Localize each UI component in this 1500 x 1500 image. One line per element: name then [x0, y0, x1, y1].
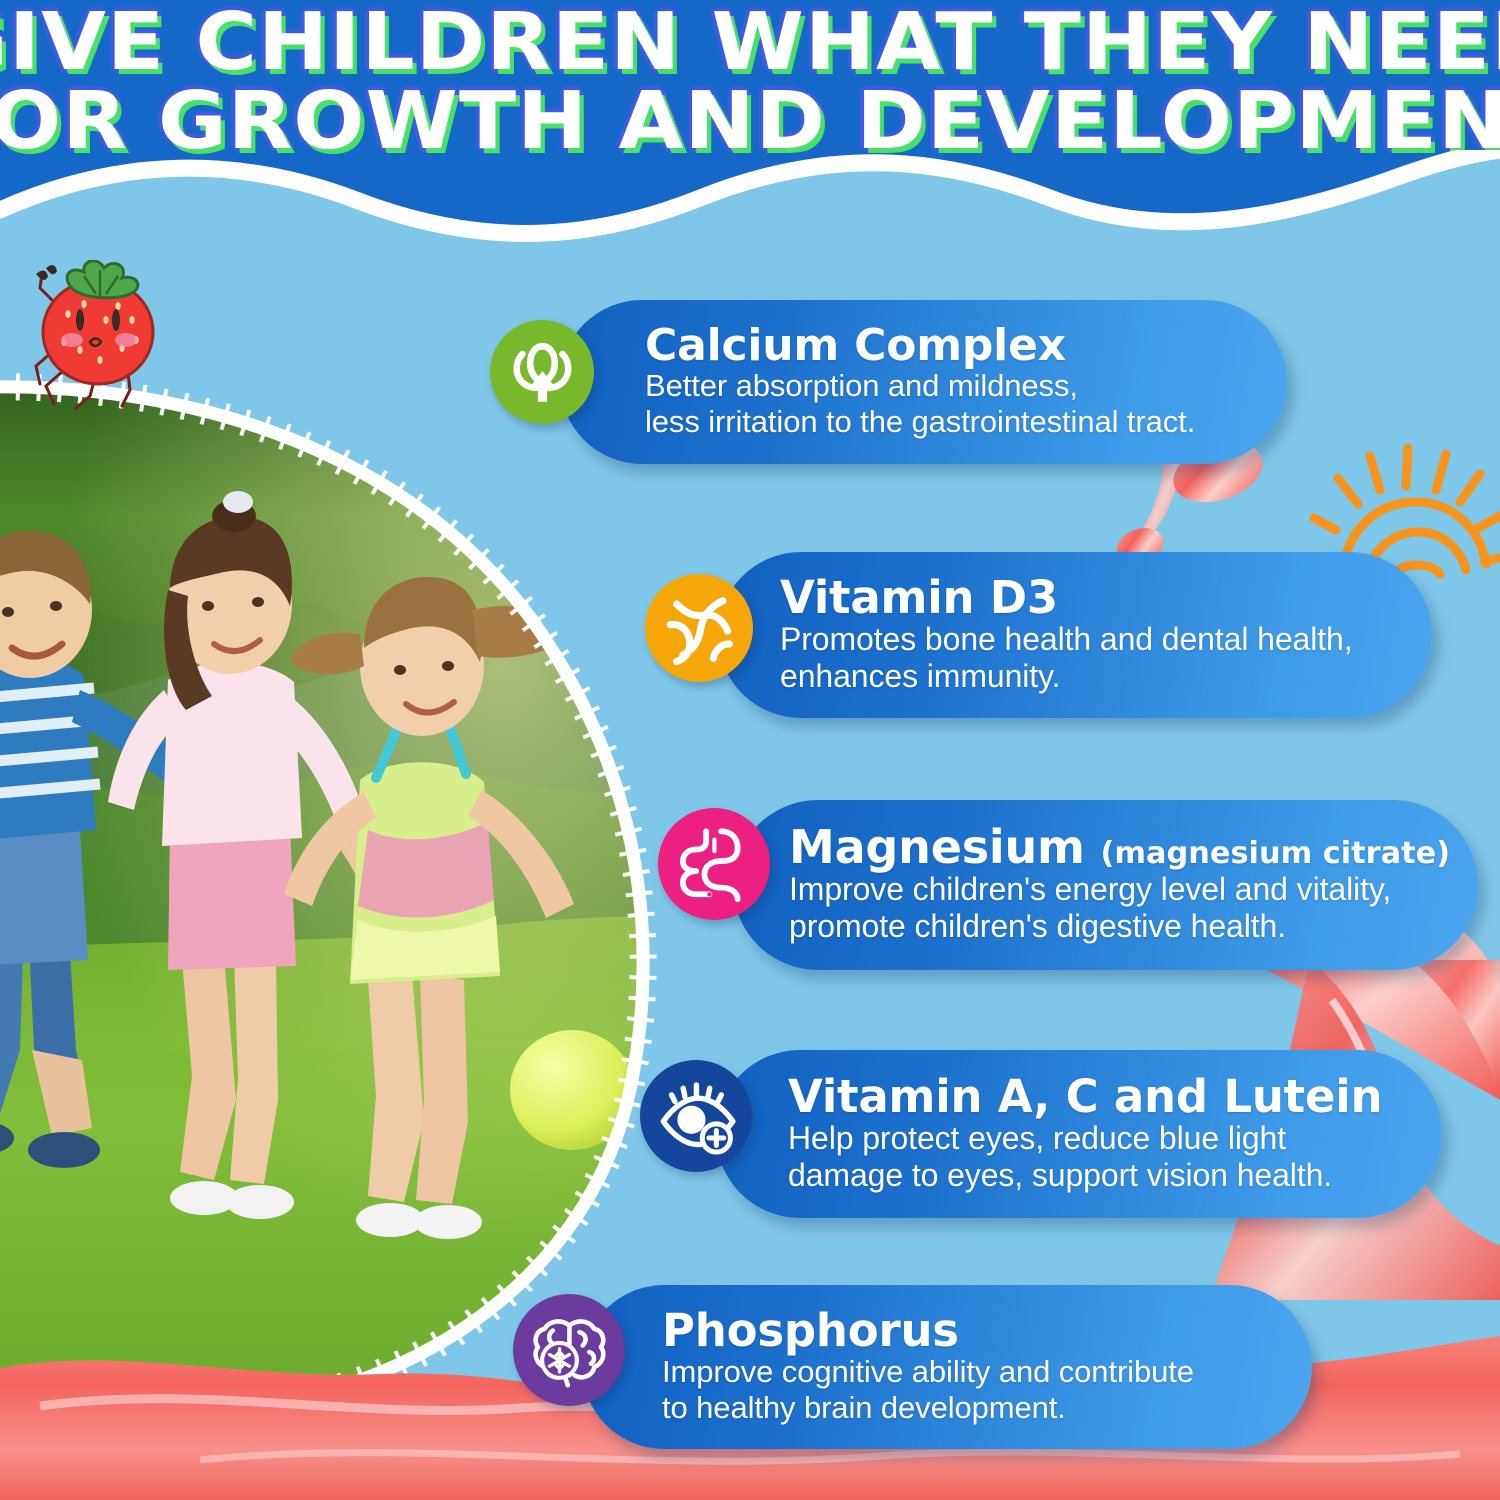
- card-title-eyes: Vitamin A, C and Lutein: [788, 1074, 1382, 1120]
- brain-icon: [513, 1294, 625, 1406]
- eye-plus-icon: [640, 1060, 752, 1172]
- card-title-magnesium: Magnesium (magnesium citrate): [789, 824, 1450, 871]
- benefit-card-calcium[interactable]: Calcium Complex Better absorption and mi…: [560, 300, 1287, 464]
- card-title-calcium: Calcium Complex: [645, 324, 1195, 369]
- header-title-line1: GIVE CHILDREN WHAT THEY NEED: [0, 6, 1500, 79]
- children-photo: [0, 360, 672, 1430]
- card-desc-eyes-line2: damage to eyes, support vision health.: [788, 1157, 1382, 1194]
- poster-root: GIVE CHILDREN WHAT THEY NEED FOR GROWTH …: [0, 0, 1500, 1500]
- card-title-phosphorus: Phosphorus: [662, 1308, 1194, 1354]
- benefit-card-vitamin-a-c-lutein[interactable]: Vitamin A, C and Lutein Help protect eye…: [716, 1050, 1442, 1218]
- card-desc-magnesium-line1: Improve children's energy level and vita…: [789, 871, 1450, 908]
- card-desc-magnesium-line2: promote children's digestive health.: [789, 908, 1450, 945]
- card-desc-phosphorus-line2: to healthy brain development.: [662, 1390, 1194, 1426]
- photo-content: [0, 360, 672, 1430]
- header-title-line2: FOR GROWTH AND DEVELOPMENT: [0, 85, 1500, 158]
- card-desc-d3-line1: Promotes bone health and dental health,: [780, 621, 1353, 658]
- hands-growth-arrow-icon: [490, 320, 594, 424]
- card-desc-calcium-line1: Better absorption and mildness,: [645, 368, 1195, 404]
- benefit-card-phosphorus[interactable]: Phosphorus Improve cognitive ability and…: [582, 1285, 1312, 1449]
- strawberry-mascot-icon: [18, 244, 188, 419]
- card-title-magnesium-main: Magnesium: [789, 820, 1085, 874]
- card-title-magnesium-sub: (magnesium citrate): [1101, 836, 1451, 871]
- card-desc-calcium-line2: less irritation to the gastrointestinal …: [645, 404, 1195, 440]
- card-desc-phosphorus-line1: Improve cognitive ability and contribute: [662, 1354, 1194, 1390]
- benefit-card-magnesium[interactable]: Magnesium (magnesium citrate) Improve ch…: [733, 800, 1478, 970]
- card-desc-d3-line2: enhances immunity.: [780, 658, 1353, 695]
- wave-divider: [0, 150, 1500, 260]
- card-title-d3: Vitamin D3: [780, 575, 1353, 621]
- bone-joint-icon: [645, 574, 753, 682]
- intestines-icon: [658, 808, 770, 920]
- benefit-card-vitamin-d3[interactable]: Vitamin D3 Promotes bone health and dent…: [718, 552, 1432, 718]
- card-desc-eyes-line1: Help protect eyes, reduce blue light: [788, 1120, 1382, 1157]
